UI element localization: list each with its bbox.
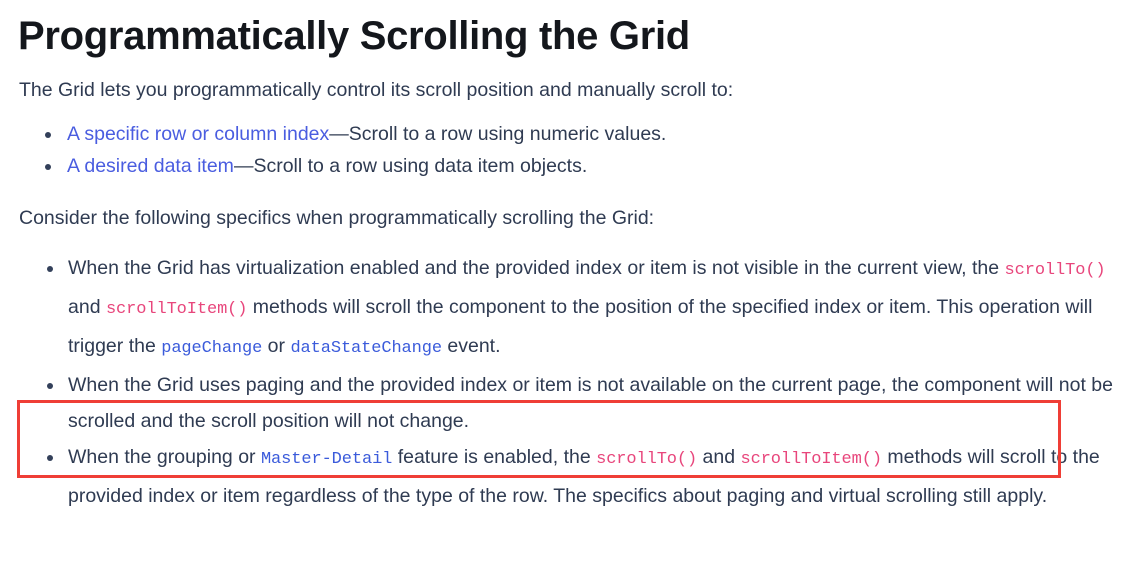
code-scrolltoitem: scrollToItem() xyxy=(106,300,247,319)
list-item: A desired data item—Scroll to a row usin… xyxy=(0,150,1132,182)
spec-text-part: feature is enabled, the xyxy=(392,446,596,468)
documentation-page: Programmatically Scrolling the Grid The … xyxy=(0,0,1132,588)
spec-text-part: or xyxy=(262,335,290,357)
code-link-datastatechange[interactable]: dataStateChange xyxy=(290,339,442,358)
list-item-text: —Scroll to a row using numeric values. xyxy=(329,123,666,145)
code-scrollto: scrollTo() xyxy=(596,450,697,469)
spec-text-part: and xyxy=(68,296,106,318)
link-desired-data-item[interactable]: A desired data item xyxy=(67,155,234,177)
spec-text-part: When the Grid uses paging and the provid… xyxy=(68,374,1113,432)
spec-text-part: event. xyxy=(442,335,501,357)
intro-paragraph: The Grid lets you programmatically contr… xyxy=(0,60,1132,104)
scroll-target-link-list: A specific row or column index—Scroll to… xyxy=(0,104,1132,182)
code-scrollto: scrollTo() xyxy=(1005,261,1106,280)
spec-text-part: When the Grid has virtualization enabled… xyxy=(68,257,1005,279)
spec-text-part: and xyxy=(697,446,740,468)
list-item: A specific row or column index—Scroll to… xyxy=(0,118,1132,150)
specifics-list: When the Grid has virtualization enabled… xyxy=(0,250,1132,514)
spec-text-part: When the grouping or xyxy=(68,446,261,468)
code-link-pagechange[interactable]: pageChange xyxy=(161,339,262,358)
code-link-master-detail[interactable]: Master-Detail xyxy=(261,450,392,469)
code-scrolltoitem: scrollToItem() xyxy=(741,450,882,469)
list-item-grouping-master-detail: When the grouping or Master-Detail featu… xyxy=(0,439,1132,514)
consider-paragraph: Consider the following specifics when pr… xyxy=(0,182,1132,250)
page-title: Programmatically Scrolling the Grid xyxy=(0,0,1132,60)
list-item-paging-highlighted: When the Grid uses paging and the provid… xyxy=(0,367,1132,439)
list-item-text: —Scroll to a row using data item objects… xyxy=(234,155,587,177)
list-item-virtualization: When the Grid has virtualization enabled… xyxy=(0,250,1132,367)
link-specific-row-or-column-index[interactable]: A specific row or column index xyxy=(67,123,329,145)
